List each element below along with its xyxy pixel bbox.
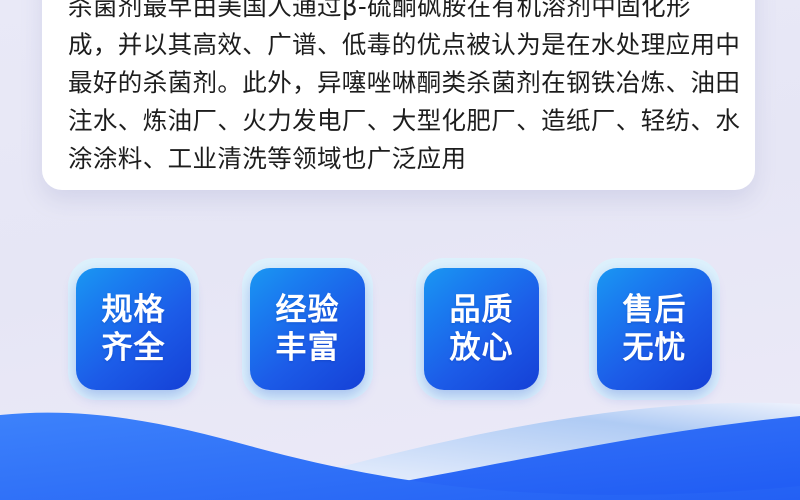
feature-badge-line1: 规格 — [102, 291, 166, 329]
feature-badge-quality[interactable]: 品质 放心 — [416, 258, 547, 400]
description-line: 最好的杀菌剂。此外，异噻唑啉酮类杀菌剂在钢铁冶炼、油田 — [68, 64, 733, 102]
description-line: 涂涂料、工业清洗等领域也广泛应用 — [68, 140, 733, 178]
feature-badge-line2: 无忧 — [623, 329, 687, 367]
feature-badge-line2: 齐全 — [102, 329, 166, 367]
feature-badge-line2: 放心 — [450, 329, 514, 367]
feature-badge-specifications[interactable]: 规格 齐全 — [68, 258, 199, 400]
description-text-block: 杀菌剂最早由美国人通过β-硫酮砜胺在有机溶剂中固化形 成，并以其高效、广谱、低毒… — [68, 0, 733, 178]
feature-badge-after-sales[interactable]: 售后 无忧 — [589, 258, 720, 400]
feature-badge-inner: 规格 齐全 — [76, 268, 191, 390]
feature-badge-line1: 经验 — [276, 291, 340, 329]
feature-badge-line1: 售后 — [623, 291, 687, 329]
feature-badge-row: 规格 齐全 经验 丰富 品质 放心 售后 无忧 — [0, 258, 800, 403]
description-line: 成，并以其高效、广谱、低毒的优点被认为是在水处理应用中 — [68, 26, 733, 64]
feature-badge-inner: 经验 丰富 — [250, 268, 365, 390]
promo-banner: 杀菌剂最早由美国人通过β-硫酮砜胺在有机溶剂中固化形 成，并以其高效、广谱、低毒… — [0, 0, 800, 500]
feature-badge-line1: 品质 — [450, 291, 514, 329]
wave-decoration — [0, 390, 800, 500]
feature-badge-inner: 售后 无忧 — [597, 268, 712, 390]
feature-badge-inner: 品质 放心 — [424, 268, 539, 390]
feature-badge-experience[interactable]: 经验 丰富 — [242, 258, 373, 400]
description-card: 杀菌剂最早由美国人通过β-硫酮砜胺在有机溶剂中固化形 成，并以其高效、广谱、低毒… — [42, 0, 755, 190]
description-line: 注水、炼油厂、火力发电厂、大型化肥厂、造纸厂、轻纺、水 — [68, 102, 733, 140]
description-line: 杀菌剂最早由美国人通过β-硫酮砜胺在有机溶剂中固化形 — [68, 0, 733, 26]
feature-badge-line2: 丰富 — [276, 329, 340, 367]
wave-svg — [0, 390, 800, 500]
